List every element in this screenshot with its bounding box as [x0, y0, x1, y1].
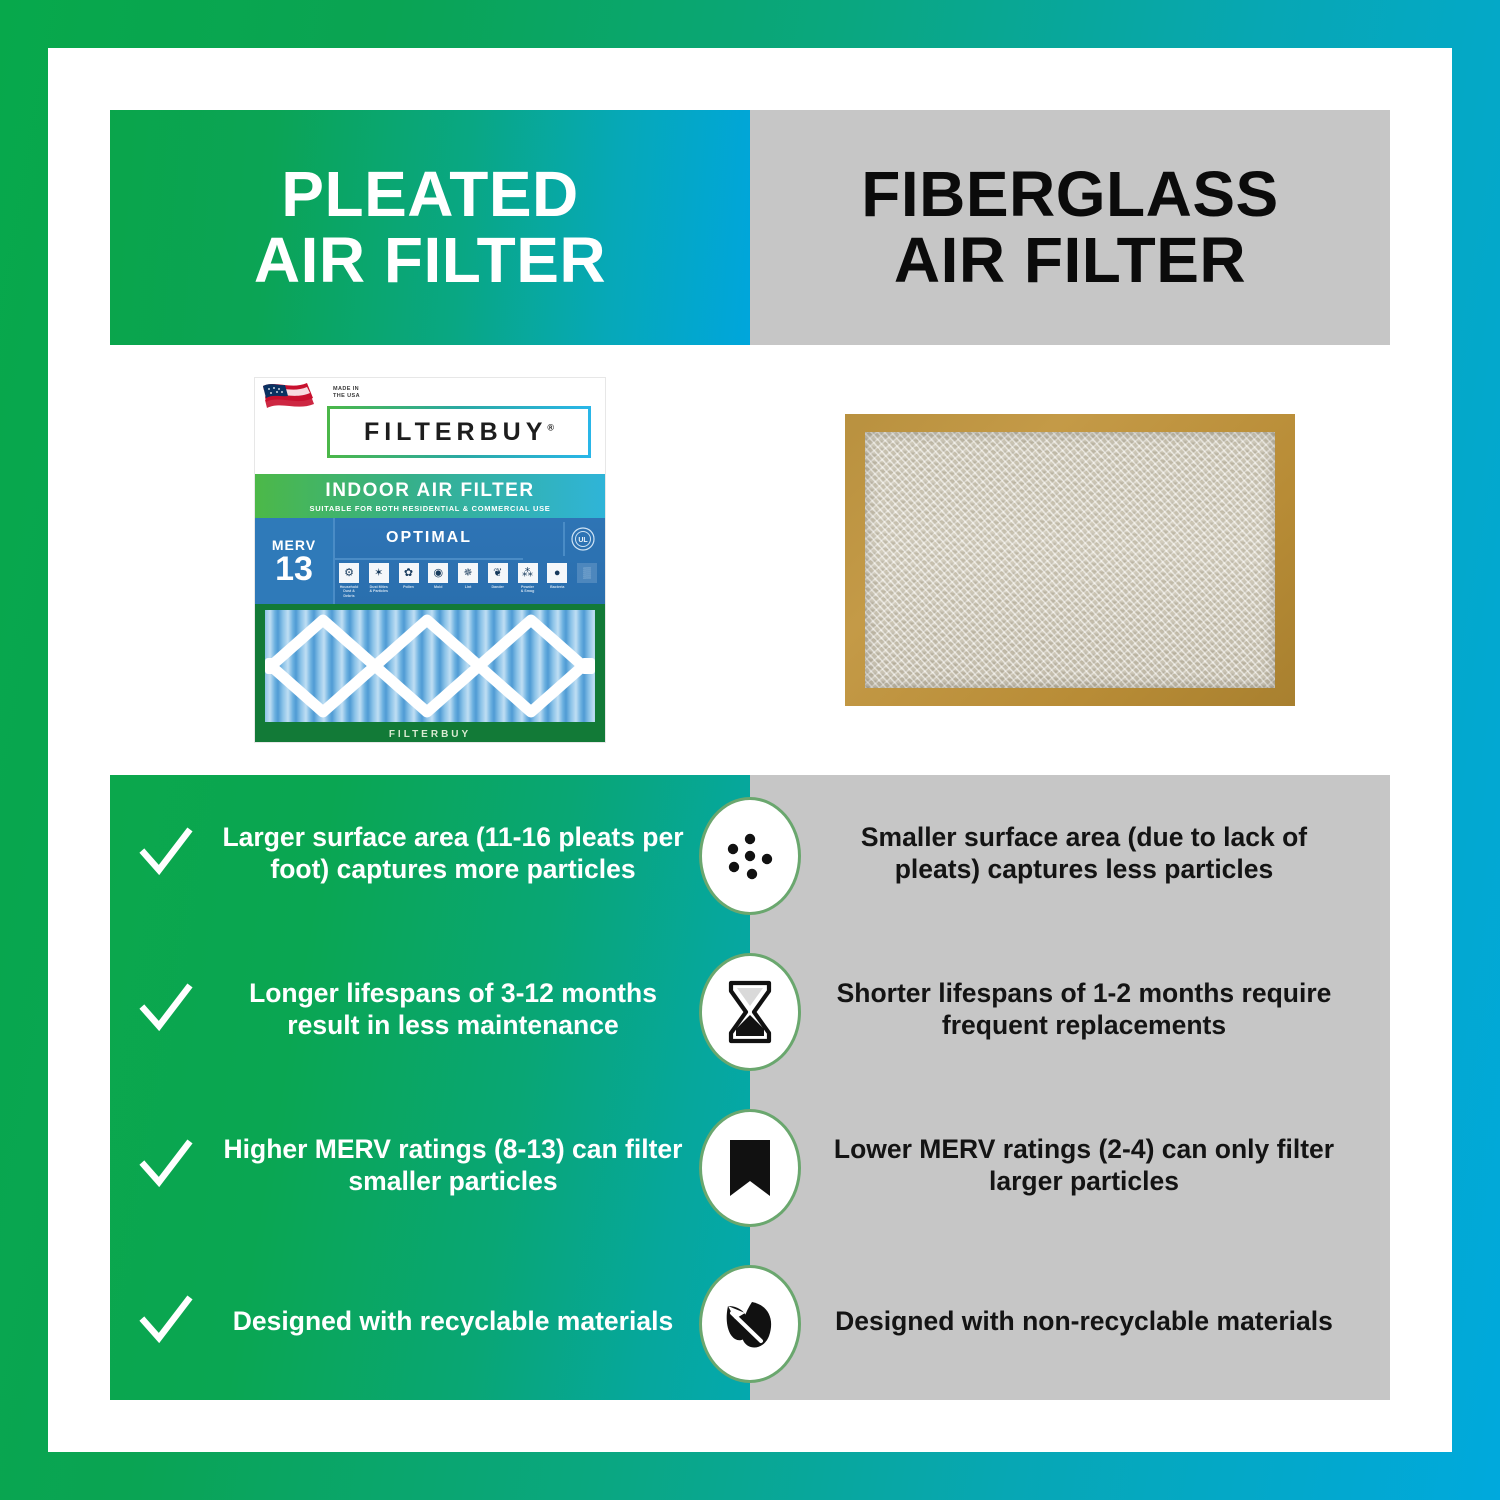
made-in-usa-text: MADE INTHE USA [333, 386, 360, 401]
pleated-media-area: FILTERBUY [255, 604, 605, 742]
leaf-icon [699, 1265, 801, 1383]
header-fiberglass-line1: FIBERGLASS [861, 162, 1278, 228]
checkmark-icon [110, 1137, 222, 1193]
capture-icon-label: Pollen [403, 585, 414, 589]
capture-icon-label: Lint [465, 585, 472, 589]
capture-icon-item: ● Bacteria [546, 563, 568, 589]
pleated-benefit-text: Longer lifespans of 3-12 months result i… [222, 977, 750, 1042]
header-fiberglass-title: FIBERGLASS AIR FILTER [861, 162, 1278, 294]
dander-icon: ❦ [488, 563, 508, 583]
fiberglass-filter-product-image [845, 414, 1295, 706]
household-dust-icon: ⚙ [339, 563, 359, 583]
usa-flag-icon [261, 380, 323, 426]
capture-icon-item: ⁂ Powder& Smog [517, 563, 539, 594]
pleated-label-band: INDOOR AIR FILTER SUITABLE FOR BOTH RESI… [255, 474, 605, 518]
pleated-footer-brand: FILTERBUY [255, 729, 605, 740]
fiberglass-drawback-text: Shorter lifespans of 1-2 months require … [750, 931, 1390, 1087]
comparison-pleated-column: Larger surface area (11-16 pleats per fo… [110, 775, 750, 1400]
capture-icon-item: ✶ Dust Mites& Particles [368, 563, 390, 594]
comparison-table: Larger surface area (11-16 pleats per fo… [110, 775, 1390, 1400]
ul-certified-icon: UL [563, 522, 601, 556]
blue-pleats [265, 610, 595, 722]
capture-icon-item: ⚙ HouseholdDust & Debris [338, 563, 360, 598]
outer-gradient-border: PLEATED AIR FILTER FIBERGLASS AIR FILTER [0, 0, 1500, 1500]
grade-optimal: OPTIMAL [335, 518, 523, 560]
pleated-label-specs: MERV 13 OPTIMAL UL [255, 518, 605, 604]
disabled-capture-icon: ▒ [577, 563, 597, 583]
capture-icon-label: Dust Mites& Particles [369, 585, 388, 594]
capture-icon-label: Dander [492, 585, 504, 589]
table-row: Longer lifespans of 3-12 months result i… [110, 931, 750, 1087]
fiberglass-drawback-text: Smaller surface area (due to lack of ple… [750, 775, 1390, 931]
dust-mites-icon: ✶ [369, 563, 389, 583]
pollen-icon: ✿ [399, 563, 419, 583]
hourglass-icon [699, 953, 801, 1071]
svg-text:UL: UL [578, 537, 588, 544]
mold-icon: ◉ [428, 563, 448, 583]
capture-icon-label: HouseholdDust & Debris [338, 585, 360, 598]
table-row: Designed with recyclable materials [110, 1243, 750, 1399]
filterbuy-logo-text: FILTERBUY® [364, 418, 554, 447]
capture-icons-row: ⚙ HouseholdDust & Debris ✶ Dust Mites& P… [335, 560, 601, 605]
header-fiberglass: FIBERGLASS AIR FILTER [750, 110, 1390, 345]
infographic-canvas: PLEATED AIR FILTER FIBERGLASS AIR FILTER [110, 110, 1390, 1400]
bookmark-icon [699, 1109, 801, 1227]
table-row: Higher MERV ratings (8-13) can filter sm… [110, 1087, 750, 1243]
lint-icon: ✵ [458, 563, 478, 583]
fiberglass-drawback-text: Lower MERV ratings (2-4) can only filter… [750, 1087, 1390, 1243]
header-pleated-title: PLEATED AIR FILTER [254, 162, 606, 294]
merv-value: 13 [275, 553, 313, 585]
checkmark-icon [110, 825, 222, 881]
capture-icon-item: ◉ Mold [427, 563, 449, 589]
capture-icon-label: Powder& Smog [521, 585, 535, 594]
capture-icon-item: ✵ Lint [457, 563, 479, 589]
fiberglass-drawback-text: Designed with non-recyclable materials [750, 1243, 1390, 1399]
pleated-benefit-text: Larger surface area (11-16 pleats per fo… [222, 821, 750, 886]
fiberglass-media [865, 432, 1275, 688]
indoor-air-filter-title: INDOOR AIR FILTER [325, 480, 534, 502]
table-row: Larger surface area (11-16 pleats per fo… [110, 775, 750, 931]
header-fiberglass-line2: AIR FILTER [861, 228, 1278, 294]
pleated-benefit-text: Higher MERV ratings (8-13) can filter sm… [222, 1133, 750, 1198]
pleated-product-cell: MADE INTHE USA FILTERBUY® INDOOR AIR FIL… [110, 345, 750, 775]
pleated-filter-product-image: MADE INTHE USA FILTERBUY® INDOOR AIR FIL… [255, 378, 605, 742]
header-pleated: PLEATED AIR FILTER [110, 110, 750, 345]
filterbuy-logo: FILTERBUY® [327, 406, 591, 458]
bacteria-icon: ● [547, 563, 567, 583]
capture-icon-label: Mold [434, 585, 442, 589]
powder-smog-icon: ⁂ [518, 563, 538, 583]
capture-icon-item-disabled: ▒ [576, 563, 598, 585]
capture-icon-item: ✿ Pollen [398, 563, 420, 589]
header-pleated-line2: AIR FILTER [254, 228, 606, 294]
capture-icon-item: ❦ Dander [487, 563, 509, 589]
header-pleated-line1: PLEATED [254, 162, 606, 228]
pleated-label-top: MADE INTHE USA FILTERBUY® [255, 378, 605, 474]
pleated-benefit-text: Designed with recyclable materials [222, 1305, 750, 1337]
product-images-strip: MADE INTHE USA FILTERBUY® INDOOR AIR FIL… [110, 345, 1390, 775]
comparison-fiberglass-column: Smaller surface area (due to lack of ple… [750, 775, 1390, 1400]
checkmark-icon [110, 981, 222, 1037]
merv-rating-block: MERV 13 [255, 518, 335, 604]
fiberglass-product-cell [750, 345, 1390, 775]
checkmark-icon [110, 1293, 222, 1349]
capture-icon-label: Bacteria [550, 585, 564, 589]
comparison-header: PLEATED AIR FILTER FIBERGLASS AIR FILTER [110, 110, 1390, 345]
particles-icon [699, 797, 801, 915]
indoor-air-filter-subtitle: SUITABLE FOR BOTH RESIDENTIAL & COMMERCI… [310, 504, 551, 513]
